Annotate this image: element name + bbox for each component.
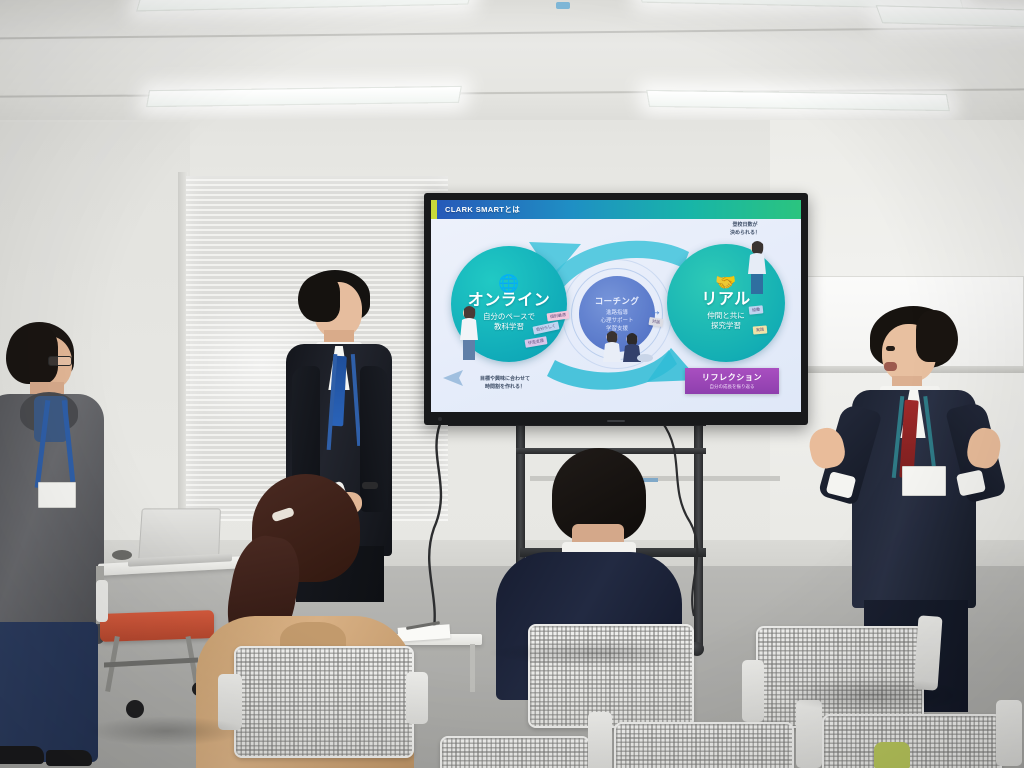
chair-backrest-post	[96, 580, 108, 622]
online-sub2: 教科学習	[494, 322, 524, 332]
floor-shadow	[780, 678, 970, 712]
floor-shadow	[488, 640, 708, 666]
table-leg	[470, 644, 475, 692]
chair-arm	[742, 660, 764, 722]
slide-note-bottom-left-line2: 時間割を作れる！	[459, 384, 551, 391]
slide-canvas: CLARK SMARTとは 🌐 オンライン 自分のペースで 教科学習	[431, 200, 801, 412]
slide-person-illustration	[455, 304, 489, 362]
ceiling-sensor-icon	[556, 2, 570, 9]
chair-arm	[796, 700, 822, 768]
slide-tag: 協働	[749, 305, 764, 314]
slide-group-illustration	[599, 328, 655, 362]
coaching-sub2: 心理サポート	[600, 317, 633, 325]
name-badge	[902, 466, 946, 496]
name-badge	[38, 482, 76, 508]
display-brand-logo	[607, 420, 625, 422]
glasses-icon	[48, 356, 72, 366]
chair-backrest[interactable]	[822, 714, 1002, 768]
slide-reflection-box: リフレクション 自分の成長を振り返る	[685, 368, 779, 394]
globe-icon: 🌐	[498, 275, 519, 292]
jeans	[0, 622, 98, 762]
chair-caster	[126, 700, 144, 718]
chair-backrest[interactable]	[234, 646, 414, 758]
slide-note-top-right-line2: 決められる！	[707, 230, 783, 237]
real-sub1: 仲間と共に	[707, 311, 745, 321]
presentation-display[interactable]: CLARK SMARTとは 🌐 オンライン 自分のペースで 教科学習	[424, 193, 808, 425]
hair-side	[298, 274, 340, 322]
classroom-presentation-scene: CLARK SMARTとは 🌐 オンライン 自分のペースで 教科学習	[0, 0, 1024, 768]
arrow-right-icon: ↔	[649, 304, 662, 317]
chair-backrest[interactable]	[756, 626, 924, 728]
reflection-title: リフレクション	[702, 372, 762, 383]
reflection-subtitle: 自分の成長を振り返る	[710, 384, 755, 390]
display-ir-sensor	[438, 417, 442, 421]
chair-backrest[interactable]	[440, 736, 590, 768]
slide-note-bottom-left-line1: 目標や興味に合わせて	[459, 376, 551, 383]
slide-pointer-arrow	[437, 366, 465, 392]
green-bag	[874, 742, 910, 768]
hair-side	[6, 324, 58, 384]
chair-arm	[588, 712, 612, 768]
slide-person-illustration-right	[741, 238, 775, 296]
online-sub1: 自分のペースで	[483, 312, 535, 322]
mouse[interactable]	[112, 550, 132, 560]
handshake-icon: 🤝	[715, 274, 736, 291]
chair-backrest[interactable]	[614, 722, 794, 768]
hair-side	[916, 310, 958, 362]
slide-tag: 実践	[753, 325, 768, 334]
coaching-heading: コーチング	[595, 295, 640, 307]
mouth	[884, 362, 897, 371]
eye	[886, 346, 895, 351]
slide-title-accent	[431, 200, 437, 219]
slide-title-bar: CLARK SMARTとは	[431, 200, 801, 219]
standing-student-hoodie	[0, 322, 130, 762]
shoe	[0, 746, 44, 764]
shoe	[46, 750, 92, 766]
slide-title: CLARK SMARTとは	[445, 204, 520, 215]
slide-note-top-right-line1: 登校日数が	[707, 222, 783, 229]
floor-shadow	[86, 716, 246, 746]
real-sub2: 探究学習	[711, 321, 741, 331]
coaching-sub1: 進路指導	[606, 309, 628, 317]
chair-arm	[996, 700, 1022, 766]
chair-arm	[406, 672, 428, 724]
